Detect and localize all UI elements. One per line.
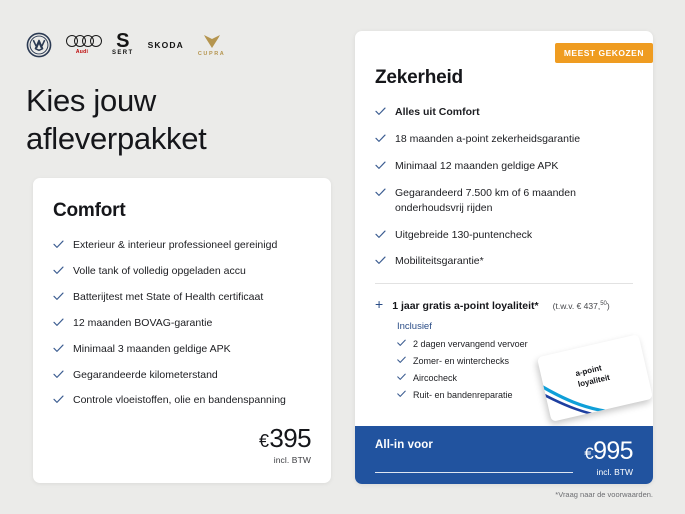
list-item: Uitgebreide 130-puntencheck (375, 228, 633, 243)
list-item: Gegarandeerd 7.500 km of 6 maanden onder… (375, 186, 633, 216)
zekerheid-title: Zekerheid (375, 67, 633, 89)
section-divider (375, 283, 633, 284)
check-icon (53, 266, 64, 275)
list-item-label: Alles uit Comfort (395, 105, 480, 120)
check-icon (375, 256, 386, 265)
check-icon (375, 107, 386, 116)
skoda-wordmark: SKODA (148, 40, 184, 50)
cupra-wordmark: CUPRA (198, 51, 226, 57)
list-item-label: 18 maanden a-point zekerheidsgarantie (395, 132, 580, 147)
list-item: Gegarandeerde kilometerstand (53, 368, 311, 383)
list-item-label: Uitgebreide 130-puntencheck (395, 228, 532, 243)
list-item: Minimaal 12 maanden geldige APK (375, 159, 633, 174)
check-icon (375, 134, 386, 143)
list-item-label: Controle vloeistoffen, olie en bandenspa… (73, 393, 286, 408)
check-icon (53, 240, 64, 249)
list-item: 12 maanden BOVAG-garantie (53, 316, 311, 331)
list-item-label: Minimaal 12 maanden geldige APK (395, 159, 558, 174)
included-label: Inclusief (397, 321, 633, 332)
check-icon (397, 339, 406, 347)
footer-rule (375, 472, 573, 473)
zekerheid-price-footer: All-in voor €995 incl. BTW (355, 426, 653, 484)
comfort-package-card[interactable]: Comfort Exterieur & interieur profession… (33, 178, 331, 483)
loyalty-value: (t.w.v. € 437,50) (553, 301, 610, 311)
check-icon (397, 373, 406, 381)
check-icon (53, 395, 64, 404)
check-icon (53, 318, 64, 327)
check-icon (397, 390, 406, 398)
currency-symbol: € (584, 444, 593, 463)
zekerheid-package-card[interactable]: MEEST GEKOZEN Zekerheid Alles uit Comfor… (355, 31, 653, 484)
comfort-price-block: €395 incl. BTW (259, 425, 311, 465)
list-item: Volle tank of volledig opgeladen accu (53, 264, 311, 279)
vw-logo-icon (26, 32, 52, 58)
list-item-label: Volle tank of volledig opgeladen accu (73, 264, 246, 279)
comfort-price-note: incl. BTW (259, 455, 311, 465)
list-item-label: 12 maanden BOVAG-garantie (73, 316, 212, 331)
check-icon (375, 161, 386, 170)
loyalty-value-cents: 50 (600, 302, 607, 308)
skoda-logo: SKODA (148, 40, 184, 50)
zekerheid-price: €995 (584, 439, 633, 464)
list-item-label: Mobiliteitsgarantie* (395, 254, 484, 269)
list-item: Exterieur & interieur professioneel gere… (53, 238, 311, 253)
comfort-price: €395 (259, 425, 311, 451)
seat-wordmark: SERT (112, 50, 134, 56)
comfort-feature-list: Exterieur & interieur professioneel gere… (53, 238, 311, 408)
list-item-label: Aircocheck (413, 373, 457, 383)
disclaimer-text: *Vraag naar de voorwaarden. (555, 490, 653, 499)
check-icon (375, 188, 386, 197)
list-item-label: Gegarandeerde kilometerstand (73, 368, 218, 383)
loyalty-value-suffix: ) (607, 301, 610, 311)
cupra-logo: CUPRA (198, 33, 226, 57)
audi-logo: Audi (66, 35, 98, 55)
allin-label: All-in voor (375, 439, 433, 451)
list-item-label: 2 dagen vervangend vervoer (413, 339, 528, 349)
check-icon (53, 370, 64, 379)
cupra-mark-icon (202, 33, 222, 49)
seat-mark-icon: S (116, 34, 129, 49)
zekerheid-price-block: €995 incl. BTW (584, 439, 633, 477)
zekerheid-price-note: incl. BTW (584, 467, 633, 477)
check-icon (53, 292, 64, 301)
list-item: Mobiliteitsgarantie* (375, 254, 633, 269)
zekerheid-price-amount: 995 (593, 437, 633, 465)
list-item-label: Exterieur & interieur professioneel gere… (73, 238, 277, 253)
plus-icon: + (375, 297, 383, 311)
loyalty-title: 1 jaar gratis a-point loyaliteit* (392, 300, 538, 312)
status-badge: MEEST GEKOZEN (555, 43, 653, 63)
vw-logo (26, 32, 52, 58)
list-item: Batterijtest met State of Health certifi… (53, 290, 311, 305)
list-item-label: Ruit- en bandenreparatie (413, 390, 513, 400)
audi-wordmark: Audi (76, 49, 88, 55)
list-item: Alles uit Comfort (375, 105, 633, 120)
list-item-label: Gegarandeerd 7.500 km of 6 maanden onder… (395, 186, 633, 216)
list-item: Minimaal 3 maanden geldige APK (53, 342, 311, 357)
comfort-title: Comfort (53, 200, 311, 222)
list-item: 18 maanden a-point zekerheidsgarantie (375, 132, 633, 147)
list-item: Controle vloeistoffen, olie en bandenspa… (53, 393, 311, 408)
list-item-label: Zomer- en winterchecks (413, 356, 509, 366)
seat-logo: S SERT (112, 34, 134, 56)
check-icon (375, 230, 386, 239)
zekerheid-feature-list: Alles uit Comfort 18 maanden a-point zek… (375, 105, 633, 269)
page-title: Kies jouw afleverpakket (26, 82, 206, 159)
list-item-label: Batterijtest met State of Health certifi… (73, 290, 263, 305)
currency-symbol: € (259, 431, 268, 451)
page-root: Audi S SERT SKODA CUPRA Kies jouw afleve… (0, 0, 685, 514)
audi-rings-icon (66, 35, 98, 47)
list-item-label: Minimaal 3 maanden geldige APK (73, 342, 231, 357)
check-icon (397, 356, 406, 364)
loyalty-value-prefix: (t.w.v. € 437, (553, 301, 601, 311)
brand-logo-strip: Audi S SERT SKODA CUPRA (26, 32, 225, 58)
comfort-price-amount: 395 (269, 423, 311, 453)
check-icon (53, 344, 64, 353)
loyalty-row: + 1 jaar gratis a-point loyaliteit* (t.w… (375, 297, 633, 312)
